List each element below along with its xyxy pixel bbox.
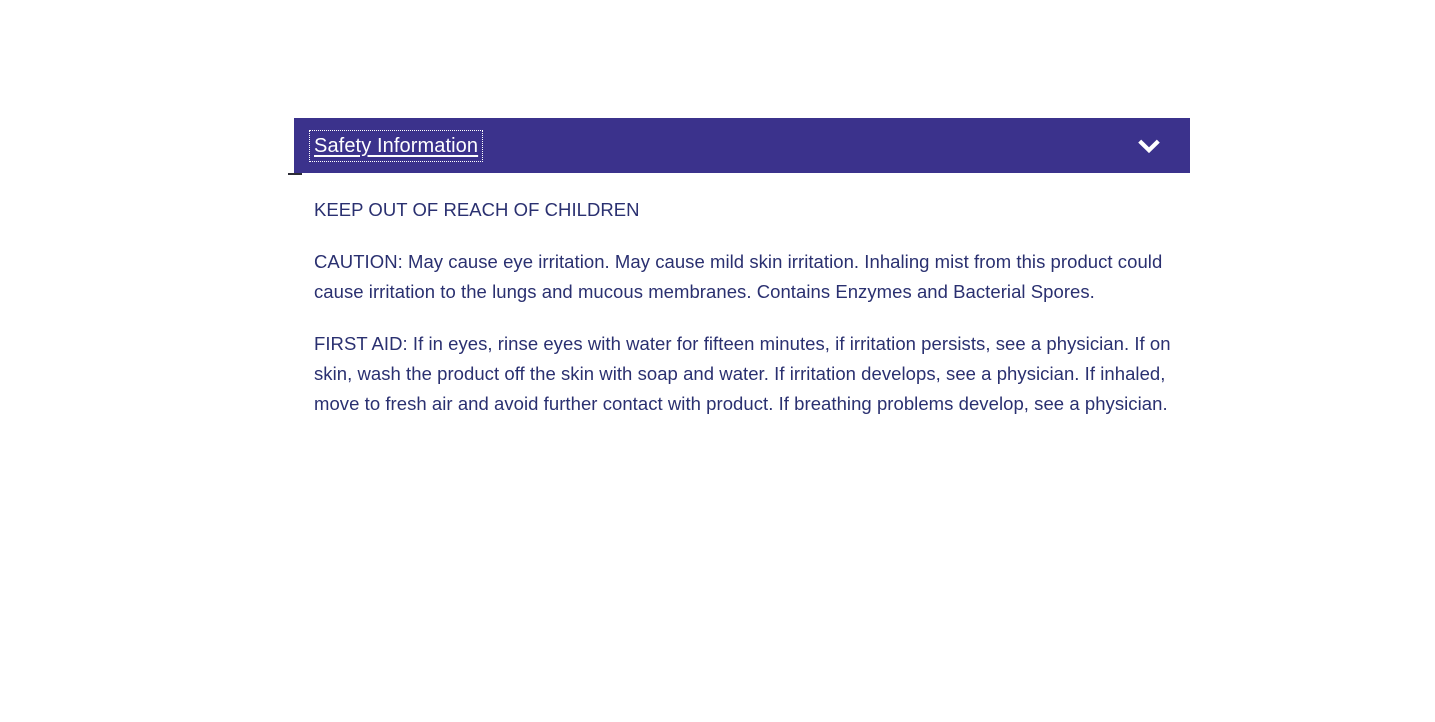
- safety-heading-keep-out-of-reach: KEEP OUT OF REACH OF CHILDREN: [314, 195, 1180, 225]
- accordion-title[interactable]: Safety Information: [313, 134, 479, 158]
- accordion-content: KEEP OUT OF REACH OF CHILDREN CAUTION: M…: [294, 173, 1180, 419]
- chevron-down-icon: [1136, 133, 1162, 159]
- accordion-toggle-button[interactable]: [1136, 133, 1171, 159]
- accordion-header-safety-information[interactable]: Safety Information: [294, 118, 1190, 173]
- safety-paragraph-first-aid: FIRST AID: If in eyes, rinse eyes with w…: [314, 329, 1180, 419]
- safety-information-accordion: Safety Information KEEP OUT OF REACH OF …: [294, 118, 1190, 419]
- safety-paragraph-caution: CAUTION: May cause eye irritation. May c…: [314, 247, 1180, 307]
